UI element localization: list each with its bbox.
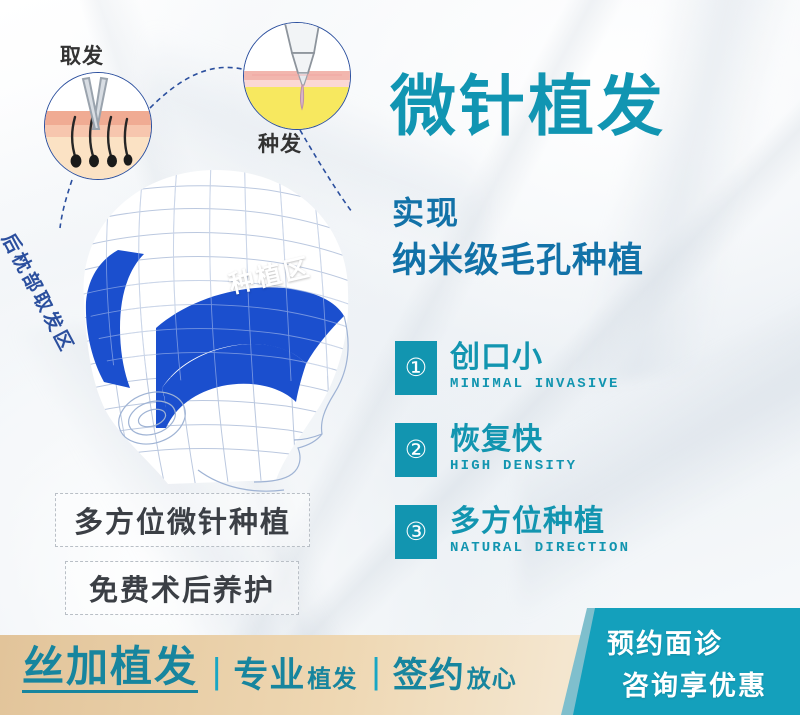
slogan-small: 植发 xyxy=(307,668,357,692)
feature-number-badge: ① xyxy=(395,341,437,395)
feature-subtitle: HIGH DENSITY xyxy=(450,458,577,474)
feature-title: 多方位种植 xyxy=(450,506,630,538)
slogan-big: 签约 xyxy=(393,658,465,693)
page-title: 微针植发 xyxy=(390,73,666,139)
feature-item: ② 恢复快 HIGH DENSITY xyxy=(395,423,630,477)
feature-number-badge: ② xyxy=(395,423,437,477)
promo-box: 多方位微针种植 xyxy=(55,493,310,547)
subtitle-line-2: 纳米级毛孔种植 xyxy=(392,232,644,283)
slogan-item: 专业 植发 xyxy=(233,658,357,693)
feature-number-badge: ③ xyxy=(395,505,437,559)
feature-subtitle: MINIMAL INVASIVE xyxy=(450,376,620,392)
bar-separator: | xyxy=(212,653,221,689)
slogan-item: 签约 放心 xyxy=(393,658,517,693)
cta-line-1[interactable]: 预约面诊 xyxy=(607,622,723,661)
implanter-pen-icon xyxy=(244,23,350,129)
feature-title: 恢复快 xyxy=(450,424,577,456)
wireframe-head-diagram xyxy=(48,150,398,510)
cta-line-2[interactable]: 咨询享优惠 xyxy=(622,664,767,703)
slogan-big: 专业 xyxy=(233,658,305,693)
feature-subtitle: NATURAL DIRECTION xyxy=(450,540,630,556)
feature-item: ③ 多方位种植 NATURAL DIRECTION xyxy=(395,505,630,559)
poster-canvas: 取发 种发 xyxy=(0,0,800,715)
wireframe-head-icon xyxy=(48,150,398,510)
promo-box: 免费术后养护 xyxy=(65,561,299,615)
extract-label: 取发 xyxy=(60,40,104,70)
feature-list: ① 创口小 MINIMAL INVASIVE ② 恢复快 HIGH DENSIT… xyxy=(395,341,630,587)
feature-title: 创口小 xyxy=(450,342,620,374)
slogan-small: 放心 xyxy=(467,668,517,692)
feature-item: ① 创口小 MINIMAL INVASIVE xyxy=(395,341,630,395)
subtitle-line-1: 实现 xyxy=(392,188,460,234)
implant-illustration-circle xyxy=(243,22,351,130)
brand-row: 丝加植发 | 专业 植发 | 签约 放心 xyxy=(22,645,517,693)
brand-name: 丝加植发 xyxy=(22,645,198,693)
bar-separator: | xyxy=(371,653,380,689)
